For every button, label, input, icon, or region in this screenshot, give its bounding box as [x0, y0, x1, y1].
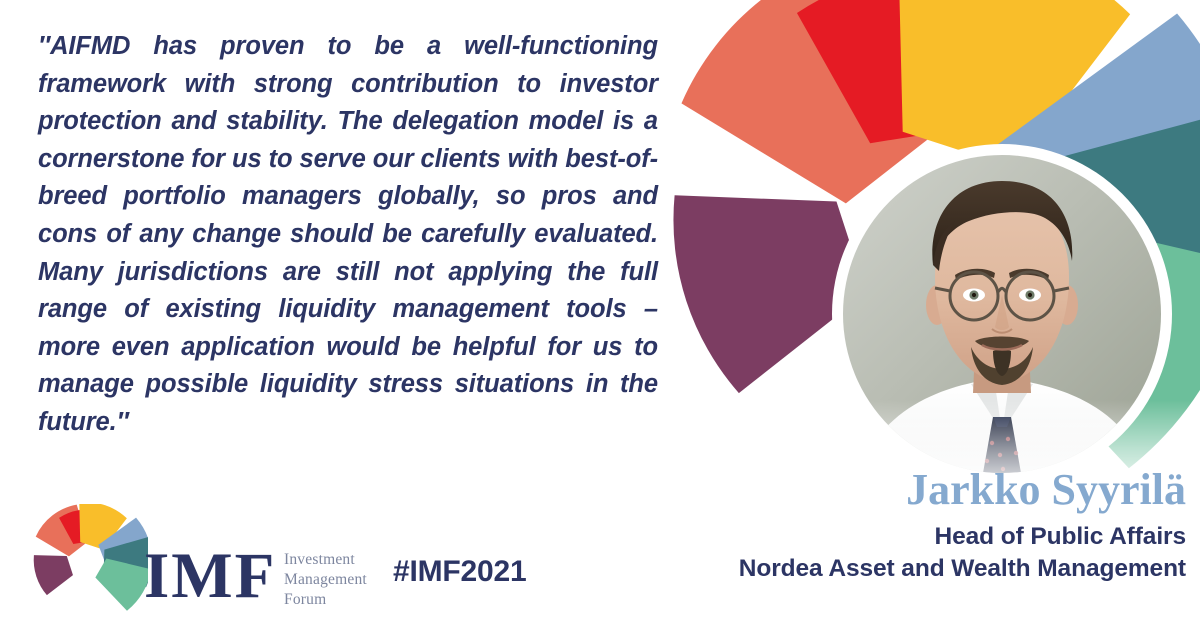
quote-card: ″AIFMD has proven to be a well-functioni… — [0, 0, 1200, 627]
speaker-credit: Jarkko Syyrilä Head of Public Affairs No… — [626, 466, 1186, 585]
speaker-portrait — [832, 144, 1172, 484]
logo-wordmark: IMF — [144, 544, 276, 609]
quote-text: ″AIFMD has proven to be a well-functioni… — [38, 28, 658, 442]
speaker-organisation: Nordea Asset and Wealth Management — [626, 553, 1186, 585]
red-petal — [793, 0, 1024, 151]
portrait-photo — [843, 155, 1161, 473]
logo-tagline-line-1: Investment — [284, 550, 367, 570]
logo-tagline-line-2: Management — [284, 570, 367, 590]
speaker-role: Head of Public Affairs — [626, 521, 1186, 553]
logo-tagline-line-3: Forum — [284, 590, 367, 610]
speaker-name: Jarkko Syyrilä — [626, 466, 1186, 514]
event-hashtag: #IMF2021 — [393, 555, 526, 589]
logo-tagline: Investment Management Forum — [284, 550, 367, 610]
imf-logo[interactable]: IMF Investment Management Forum — [26, 504, 326, 616]
imf-pinwheel-icon — [26, 504, 148, 616]
